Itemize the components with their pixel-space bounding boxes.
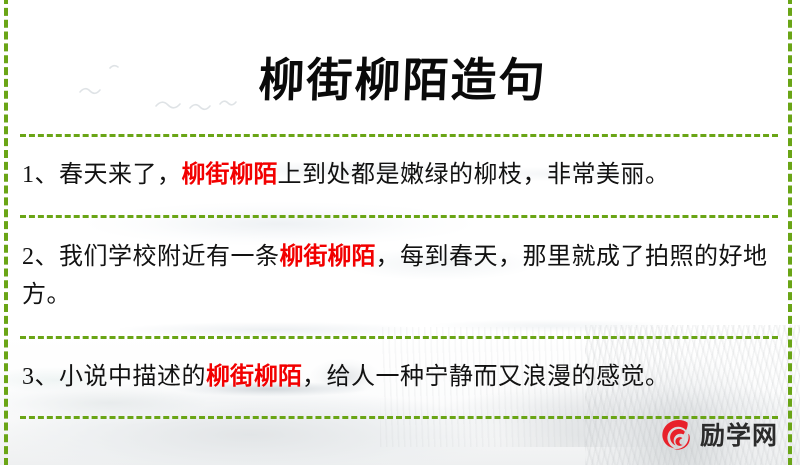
- sentence-text-2: 2、我们学校附近有一条柳街柳陌，每到春天，那里就成了拍照的好地方。: [22, 239, 776, 313]
- sentence-index-3: 3、: [22, 364, 59, 390]
- sentence-before-3: 小说中描述的: [59, 364, 206, 390]
- sentence-before-1: 春天来了，: [59, 162, 182, 188]
- content-area: 柳街柳陌造句 1、春天来了，柳街柳陌上到处都是嫩绿的柳枝，非常美丽。 2、我们学…: [0, 31, 800, 465]
- brand-name: 励学网: [700, 423, 778, 448]
- keyword-highlight: 柳街柳陌: [280, 244, 376, 270]
- sentence-row: 1、春天来了，柳街柳陌上到处都是嫩绿的柳枝，非常美丽。: [20, 137, 778, 215]
- sentence-row: 3、小说中描述的柳街柳陌，给人一种宁静而又浪漫的感觉。: [20, 339, 778, 416]
- sentence-index-1: 1、: [22, 162, 59, 188]
- sentence-card-page: 柳街柳陌造句 1、春天来了，柳街柳陌上到处都是嫩绿的柳枝，非常美丽。 2、我们学…: [0, 0, 800, 465]
- page-title: 柳街柳陌造句: [19, 31, 780, 103]
- keyword-highlight: 柳街柳陌: [182, 162, 278, 188]
- red-swirl-flame-icon: [657, 417, 693, 453]
- sentence-text-1: 1、春天来了，柳街柳陌上到处都是嫩绿的柳枝，非常美丽。: [22, 157, 776, 194]
- sentence-after-3: ，给人一种宁静而又浪漫的感觉。: [302, 364, 670, 390]
- sentence-index-2: 2、: [22, 244, 59, 270]
- sentence-text-3: 3、小说中描述的柳街柳陌，给人一种宁静而又浪漫的感觉。: [22, 359, 776, 396]
- sentence-after-1: 上到处都是嫩绿的柳枝，非常美丽。: [278, 162, 670, 188]
- sentence-before-2: 我们学校附近有一条: [59, 244, 280, 270]
- watermark-logo: 励学网: [657, 417, 778, 453]
- keyword-highlight: 柳街柳陌: [206, 364, 302, 390]
- sentence-row: 2、我们学校附近有一条柳街柳陌，每到春天，那里就成了拍照的好地方。: [20, 218, 778, 336]
